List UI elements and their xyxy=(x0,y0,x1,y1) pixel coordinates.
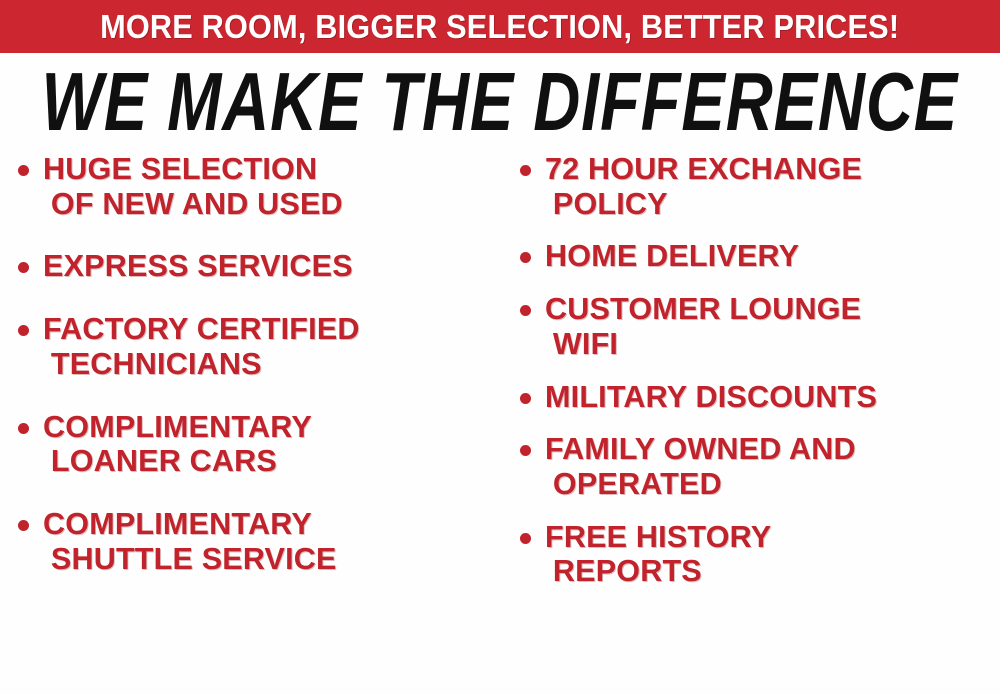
list-item: FAMILY OWNED AND OPERATED xyxy=(520,432,998,501)
list-item-line1: MILITARY DISCOUNTS xyxy=(545,379,877,414)
list-item-label: 72 HOUR EXCHANGE POLICY xyxy=(545,152,862,221)
list-item-line1: 72 HOUR EXCHANGE xyxy=(545,151,862,186)
list-item-label: FAMILY OWNED AND OPERATED xyxy=(545,432,856,501)
promotional-poster: MORE ROOM, BIGGER SELECTION, BETTER PRIC… xyxy=(0,0,1000,694)
bullet-dot-icon xyxy=(520,165,531,176)
features-columns: HUGE SELECTION OF NEW AND USED EXPRESS S… xyxy=(0,152,1000,694)
list-item: CUSTOMER LOUNGE WIFI xyxy=(520,292,998,361)
list-item-label: COMPLIMENTARY SHUTTLE SERVICE xyxy=(43,507,337,576)
bullet-dot-icon xyxy=(520,533,531,544)
list-item: FREE HISTORY REPORTS xyxy=(520,520,998,589)
list-item-line1: CUSTOMER LOUNGE xyxy=(545,291,861,326)
list-item-label: CUSTOMER LOUNGE WIFI xyxy=(545,292,861,361)
list-item-line2: WIFI xyxy=(545,327,861,362)
bullet-dot-icon xyxy=(18,165,29,176)
bullet-dot-icon xyxy=(18,325,29,336)
list-item: HUGE SELECTION OF NEW AND USED xyxy=(18,152,496,221)
list-item-line1: COMPLIMENTARY xyxy=(43,409,312,444)
list-item-line1: HOME DELIVERY xyxy=(545,238,799,273)
page-title: WE MAKE THE DIFFERENCE xyxy=(42,61,959,144)
features-column-left: HUGE SELECTION OF NEW AND USED EXPRESS S… xyxy=(0,152,500,604)
list-item-line1: HUGE SELECTION xyxy=(43,151,317,186)
list-item-line2: TECHNICIANS xyxy=(43,347,360,382)
list-item: HOME DELIVERY xyxy=(520,239,998,274)
list-item-line1: EXPRESS SERVICES xyxy=(43,248,353,283)
bullet-dot-icon xyxy=(18,423,29,434)
headline-container: WE MAKE THE DIFFERENCE xyxy=(0,60,1000,144)
bullet-dot-icon xyxy=(18,520,29,531)
list-item-line1: FAMILY OWNED AND xyxy=(545,431,856,466)
list-item-label: EXPRESS SERVICES xyxy=(43,249,353,284)
features-column-right: 72 HOUR EXCHANGE POLICY HOME DELIVERY CU… xyxy=(500,152,1000,607)
list-item-line2: REPORTS xyxy=(545,554,771,589)
list-item-label: FACTORY CERTIFIED TECHNICIANS xyxy=(43,312,360,381)
list-item: COMPLIMENTARY LOANER CARS xyxy=(18,410,496,479)
list-item-label: FREE HISTORY REPORTS xyxy=(545,520,771,589)
bullet-dot-icon xyxy=(520,393,531,404)
list-item-line2: SHUTTLE SERVICE xyxy=(43,542,337,577)
list-item-line1: FACTORY CERTIFIED xyxy=(43,311,360,346)
list-item-line1: FREE HISTORY xyxy=(545,519,771,554)
list-item: EXPRESS SERVICES xyxy=(18,249,496,284)
list-item: MILITARY DISCOUNTS xyxy=(520,380,998,415)
list-item: 72 HOUR EXCHANGE POLICY xyxy=(520,152,998,221)
banner-headline-text: MORE ROOM, BIGGER SELECTION, BETTER PRIC… xyxy=(100,10,899,43)
list-item-label: MILITARY DISCOUNTS xyxy=(545,380,877,415)
bullet-dot-icon xyxy=(520,305,531,316)
list-item-label: HUGE SELECTION OF NEW AND USED xyxy=(43,152,343,221)
top-banner: MORE ROOM, BIGGER SELECTION, BETTER PRIC… xyxy=(0,0,1000,53)
list-item-line2: OPERATED xyxy=(545,467,856,502)
bullet-dot-icon xyxy=(18,262,29,273)
list-item-line1: COMPLIMENTARY xyxy=(43,506,312,541)
list-item-label: COMPLIMENTARY LOANER CARS xyxy=(43,410,312,479)
bullet-dot-icon xyxy=(520,445,531,456)
list-item-line2: POLICY xyxy=(545,187,862,222)
list-item-line2: LOANER CARS xyxy=(43,444,312,479)
list-item-line2: OF NEW AND USED xyxy=(43,187,343,222)
bullet-dot-icon xyxy=(520,252,531,263)
list-item-label: HOME DELIVERY xyxy=(545,239,799,274)
list-item: FACTORY CERTIFIED TECHNICIANS xyxy=(18,312,496,381)
list-item: COMPLIMENTARY SHUTTLE SERVICE xyxy=(18,507,496,576)
